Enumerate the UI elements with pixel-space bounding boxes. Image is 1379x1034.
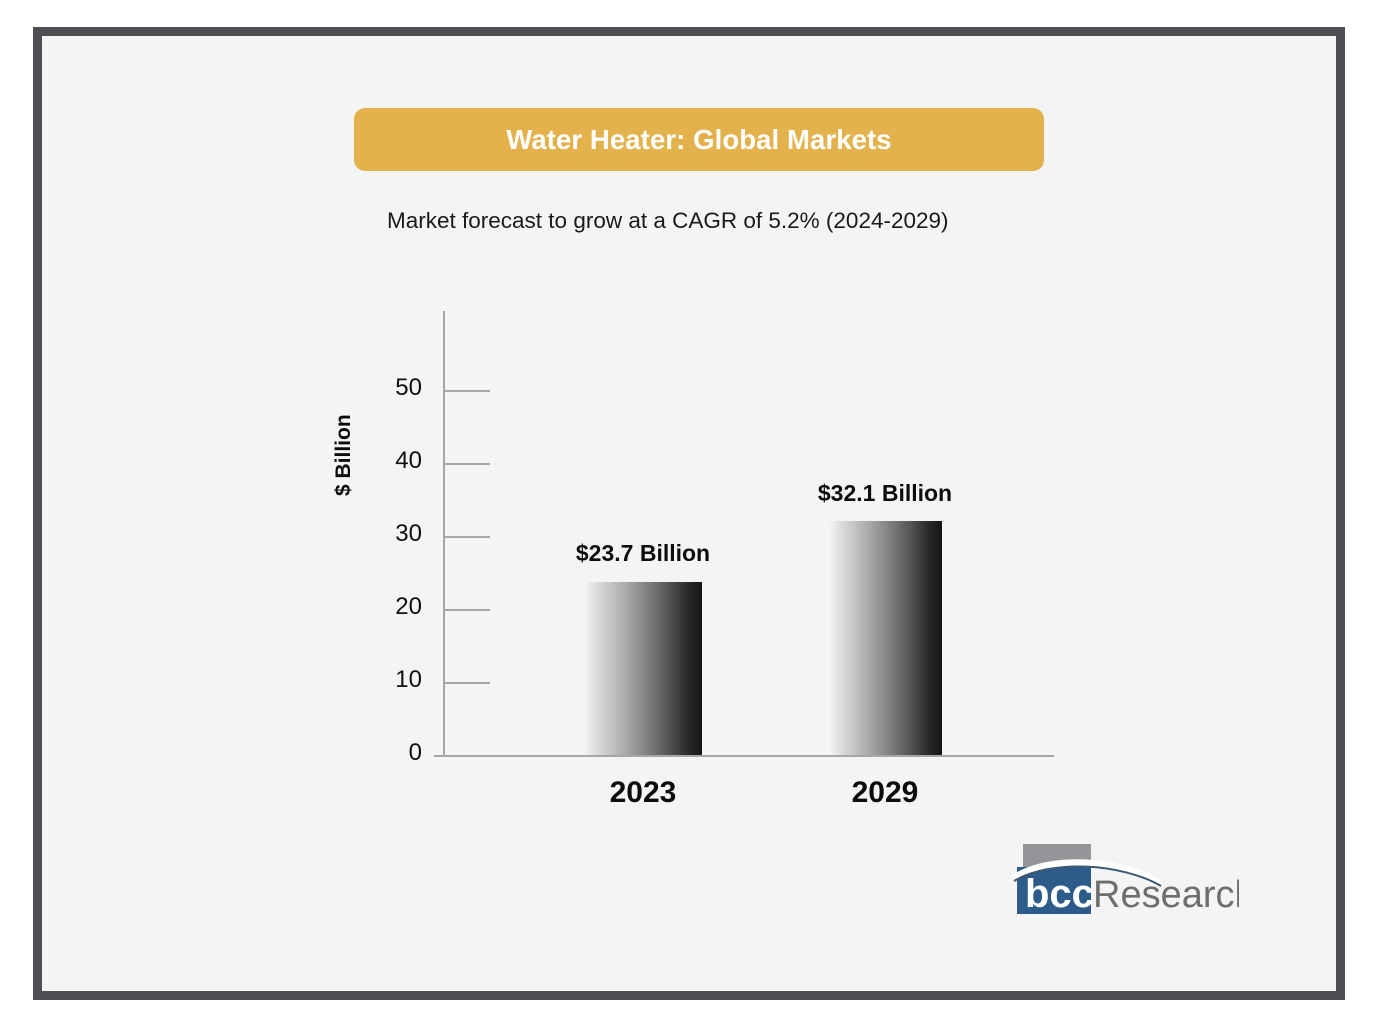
y-tick-40 (445, 463, 490, 465)
y-tick-labels: 50 40 30 20 10 0 (362, 36, 422, 991)
y-tick-20 (445, 609, 490, 611)
slide-frame: Water Heater: Global Markets Market fore… (33, 27, 1345, 1000)
y-tick-label-50: 50 (362, 374, 422, 402)
y-tick-10 (445, 682, 490, 684)
logo-bcc-text: bcc (1025, 872, 1094, 916)
y-tick-label-30: 30 (362, 520, 422, 548)
y-axis-line (443, 311, 445, 756)
y-tick-label-0: 0 (362, 739, 422, 767)
logo-research-text: Research (1093, 874, 1239, 916)
x-category-label-2023: 2023 (543, 776, 743, 810)
bar-label-2023: $23.7 Billion (523, 540, 763, 567)
y-tick-label-40: 40 (362, 447, 422, 475)
slide-canvas: Water Heater: Global Markets Market fore… (42, 36, 1336, 991)
y-tick-50 (445, 390, 490, 392)
x-axis-line (434, 755, 1054, 757)
bcc-research-logo: bcc Research (1009, 841, 1239, 933)
y-tick-30 (445, 536, 490, 538)
y-axis-title: $ Billion (332, 414, 356, 496)
bar-2023[interactable] (584, 582, 702, 755)
y-tick-label-10: 10 (362, 666, 422, 694)
y-tick-label-20: 20 (362, 593, 422, 621)
bar-2029[interactable] (829, 521, 942, 755)
x-category-label-2029: 2029 (785, 776, 985, 810)
bar-label-2029: $32.1 Billion (765, 480, 1005, 507)
